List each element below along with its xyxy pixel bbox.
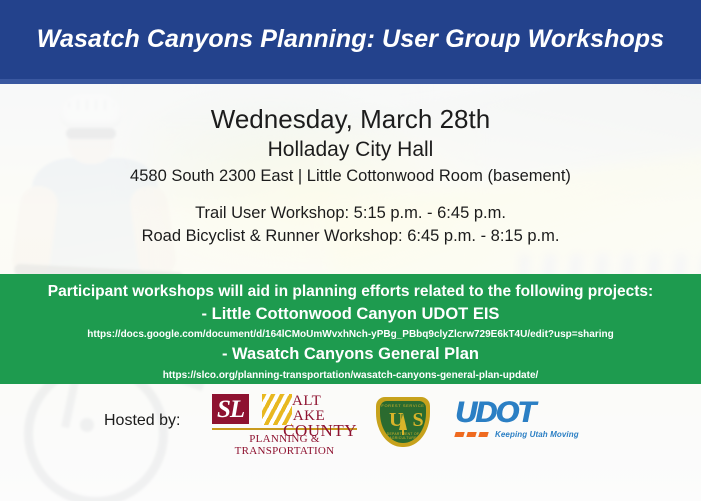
slco-logo-top: SL SALT LAKE COUNTY — [212, 394, 357, 427]
udot-dashes-icon — [454, 432, 488, 437]
usfs-shield-inner: FOREST SERVICE US DEPARTMENT OF AGRICULT… — [380, 401, 426, 443]
usfs-arc-top: FOREST SERVICE — [380, 403, 426, 408]
tree-body — [399, 413, 407, 430]
project-item-general-plan: - Wasatch Canyons General Plan — [0, 343, 701, 365]
project-item-lcc-eis: - Little Cottonwood Canyon UDOT EIS — [0, 303, 701, 325]
session-trail-user: Trail User Workshop: 5:15 p.m. - 6:45 p.… — [0, 202, 701, 225]
header-underline — [0, 79, 701, 84]
footer-logos: Hosted by: SL SALT LAKE COUNTY PLANNING … — [0, 384, 701, 501]
flyer-page: Wasatch Canyons Planning: User Group Wor… — [0, 0, 701, 501]
hosted-by-label: Hosted by: — [104, 412, 180, 430]
project-link-lcc-eis[interactable]: https://docs.google.com/document/d/164lC… — [0, 328, 701, 342]
usfs-arc-bottom: DEPARTMENT OF AGRICULTURE — [380, 432, 426, 440]
event-address: 4580 South 2300 East | Little Cottonwood… — [0, 166, 701, 187]
slco-sunburst-icon — [262, 394, 292, 425]
event-details: Wednesday, March 28th Holladay City Hall… — [0, 104, 701, 187]
udot-logo-bottom: Keeping Utah Moving — [455, 430, 580, 439]
udot-dash — [478, 432, 488, 437]
udot-dash — [466, 432, 476, 437]
udot-wordmark: UDOT — [455, 398, 580, 428]
udot-dash — [454, 432, 464, 437]
us-forest-service-logo: FOREST SERVICE US DEPARTMENT OF AGRICULT… — [376, 397, 430, 447]
session-times: Trail User Workshop: 5:15 p.m. - 6:45 p.… — [0, 202, 701, 249]
project-link-general-plan[interactable]: https://slco.org/planning-transportation… — [0, 369, 701, 383]
event-venue: Holladay City Hall — [0, 137, 701, 163]
projects-band: Participant workshops will aid in planni… — [0, 274, 701, 384]
slco-line-one: SALT LAKE — [283, 394, 357, 423]
udot-logo: UDOT Keeping Utah Moving — [455, 398, 580, 444]
event-date: Wednesday, March 28th — [0, 104, 701, 135]
session-road-bicyclist-runner: Road Bicyclist & Runner Workshop: 6:45 p… — [0, 225, 701, 248]
slco-line-two: COUNTY — [283, 423, 357, 440]
slco-department-line-two: TRANSPORTATION — [212, 445, 357, 457]
slco-wordmark: SALT LAKE COUNTY — [283, 394, 357, 440]
slco-sl-text: SL — [217, 397, 244, 422]
udot-tagline: Keeping Utah Moving — [495, 430, 579, 439]
usfs-shield-icon: FOREST SERVICE US DEPARTMENT OF AGRICULT… — [376, 397, 430, 447]
slco-sl-mark: SL — [212, 394, 249, 424]
salt-lake-county-logo: SL SALT LAKE COUNTY PLANNING & TRANSPORT… — [212, 394, 357, 450]
projects-intro: Participant workshops will aid in planni… — [0, 274, 701, 302]
page-title: Wasatch Canyons Planning: User Group Wor… — [0, 0, 701, 79]
